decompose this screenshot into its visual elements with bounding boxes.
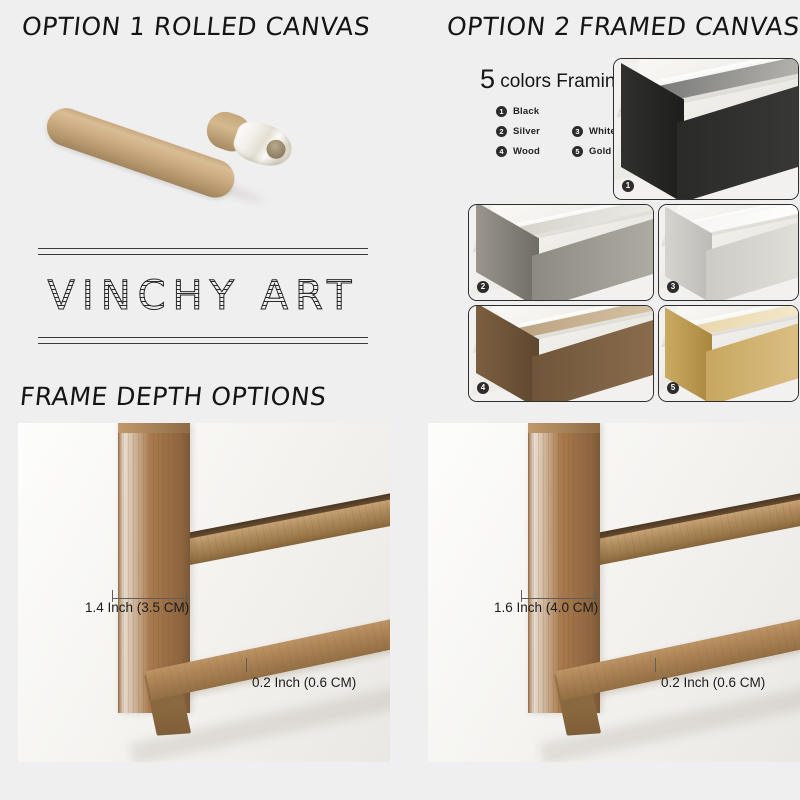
option-1-heading: OPTION 1 ROLLED CANVAS [20, 12, 371, 41]
bullet-5-icon: 5 [572, 146, 583, 157]
frame-post-top-face [528, 423, 600, 433]
dimension-label-thickness-left: 0.2 Inch (0.6 CM) [252, 675, 356, 690]
depth-photo-right [428, 423, 800, 762]
legend-label-gold: Gold [589, 146, 611, 157]
swatch-number-1: 1 [622, 180, 634, 192]
dimension-label-depth-left: 1.4 Inch (3.5 CM) [85, 600, 189, 615]
swatch-number-4: 4 [477, 382, 489, 394]
legend-label-black: Black [513, 106, 539, 117]
swatch-number-2: 2 [477, 281, 489, 293]
dimension-label-depth-right: 1.6 Inch (4.0 CM) [494, 600, 598, 615]
logo-rule-top-inner [38, 254, 368, 255]
brand-logo: VINCHY ART [38, 248, 368, 344]
frame-corner-photo [659, 306, 798, 401]
rolled-canvas-roll [229, 116, 297, 173]
frame-depth-heading: FRAME DEPTH OPTIONS [18, 382, 327, 411]
frame-post-top-face [118, 423, 190, 433]
dimension-line [112, 598, 186, 599]
dimension-line [521, 598, 595, 599]
framing-heading: 5 colors Framing [480, 64, 626, 95]
frame-swatch-black[interactable]: 1 [613, 58, 799, 200]
brand-logo-text: VINCHY ART [38, 273, 368, 319]
framing-heading-rest: colors Framing [495, 71, 626, 92]
frame-corner-photo [659, 205, 798, 300]
legend-item-black: 1 Black [496, 106, 572, 117]
bullet-4-icon: 4 [496, 146, 507, 157]
bullet-3-icon: 3 [572, 126, 583, 137]
logo-rule-top-outer [38, 248, 368, 249]
infographic-canvas: OPTION 1 ROLLED CANVAS VINCHY ART OPTION… [0, 0, 800, 800]
frame-swatch-wood[interactable]: 4 [468, 305, 654, 402]
legend-item-silver: 2 Silver [496, 126, 572, 137]
swatch-number-3: 3 [667, 281, 679, 293]
frame-corner-photo [469, 205, 653, 300]
depth-photo-left [18, 423, 390, 762]
frame-swatch-gold[interactable]: 5 [658, 305, 799, 402]
frame-corner-photo [614, 59, 798, 199]
logo-rule-bottom-outer [38, 343, 368, 344]
dimension-tick [246, 658, 247, 672]
legend-label-silver: Silver [513, 126, 540, 137]
option-2-heading: OPTION 2 FRAMED CANVAS [445, 12, 800, 41]
bullet-1-icon: 1 [496, 106, 507, 117]
frame-swatch-silver[interactable]: 2 [468, 204, 654, 301]
framing-colors-block: 5 colors Framing 1 Black 2 Silver 3 Whit… [468, 58, 798, 358]
legend-label-white: White [589, 126, 616, 137]
dimension-label-thickness-right: 0.2 Inch (0.6 CM) [661, 675, 765, 690]
bullet-2-icon: 2 [496, 126, 507, 137]
dimension-tick [655, 658, 656, 672]
rolled-canvas-illustration [40, 58, 300, 193]
legend-label-wood: Wood [513, 146, 540, 157]
logo-rule-bottom-inner [38, 337, 368, 338]
framing-count: 5 [480, 64, 495, 94]
frame-corner-photo [469, 306, 653, 401]
legend-item-wood: 4 Wood [496, 146, 572, 157]
frame-swatch-white[interactable]: 3 [658, 204, 799, 301]
swatch-number-5: 5 [667, 382, 679, 394]
